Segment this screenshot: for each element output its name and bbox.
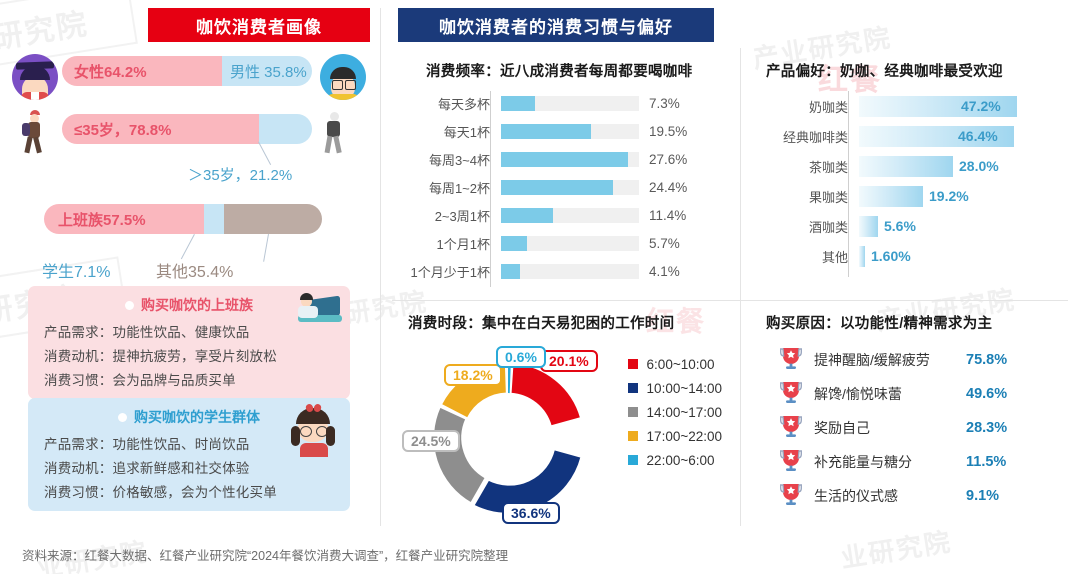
frequency-value: 19.5% [649, 124, 687, 139]
legend-swatch-icon [628, 455, 638, 465]
frequency-value: 27.6% [649, 152, 687, 167]
purchase-reason-value: 49.6% [966, 386, 1007, 402]
divider-horizontal-right [392, 300, 1068, 301]
card-office-workers-line: 消费动机：提神抗疲劳，享受片刻放松 [28, 343, 350, 367]
preference-category: 果咖类 [752, 187, 857, 206]
gender-label-male: 男性 35.8% [230, 56, 307, 86]
frequency-category: 2~3周1杯 [398, 206, 499, 225]
infographic-page: 研究院 研究院 产业研究院 产业研究院 红餐 红餐 产业研究院 业研究院 业研究… [0, 0, 1080, 574]
age-callout-over35: ＞35岁，21.2% [188, 164, 292, 185]
frequency-bar [501, 180, 613, 195]
purchase-reason-title: 购买原因：以功能性/精神需求为主 [766, 312, 1074, 333]
frequency-category: 1个月少于1杯 [398, 262, 499, 281]
divider-vertical-right [740, 48, 741, 526]
frequency-track [501, 264, 639, 279]
frequency-bar [501, 124, 591, 139]
frequency-value: 5.7% [649, 236, 680, 251]
purchase-reason-label: 奖励自己 [814, 418, 966, 438]
frequency-track [501, 124, 639, 139]
frequency-row: 1个月1杯 5.7% [398, 231, 728, 255]
legend-label: 14:00~17:00 [647, 405, 722, 420]
frequency-row: 1个月少于1杯 4.1% [398, 259, 728, 283]
donut-label-1400-1700: 24.5% [402, 430, 460, 452]
age-segment-over35 [259, 114, 312, 144]
donut-label-0600-1000: 20.1% [540, 350, 598, 372]
watermark-text: 业研究院 [838, 521, 954, 574]
purchase-reason-value: 9.1% [966, 488, 999, 504]
legend-item[interactable]: 14:00~17:00 [628, 400, 722, 424]
purchase-reason-value: 75.8% [966, 352, 1007, 368]
legend-label: 22:00~6:00 [647, 453, 715, 468]
purchase-reason-value: 28.3% [966, 420, 1007, 436]
purchase-reason-label: 提神醒脑/缓解疲劳 [814, 350, 966, 370]
preference-row: 茶咖类 28.0% [752, 151, 1074, 181]
occupation-segment-other [224, 204, 322, 234]
section-header-habits: 咖饮消费者的消费习惯与偏好 [398, 8, 714, 42]
card-students-line: 消费动机：追求新鲜感和社交体验 [28, 455, 350, 479]
legend-swatch-icon [628, 431, 638, 441]
age-bar: ≤35岁，78.8% [62, 114, 312, 144]
preference-chart-body: 奶咖类 47.2% 经典咖啡类 46.4% 茶咖类 28.0% 果咖类 19.2… [752, 91, 1074, 271]
trophy-icon [780, 482, 814, 511]
purchase-reason-row: 补充能量与糖分 11.5% [780, 445, 1074, 479]
preference-chart-panel: 产品偏好：奶咖、经典咖啡最受欢迎 奶咖类 47.2% 经典咖啡类 46.4% 茶… [752, 56, 1074, 294]
frequency-track [501, 208, 639, 223]
purchase-reason-label: 生活的仪式感 [814, 486, 966, 506]
gender-label-female: 女性64.2% [74, 56, 147, 86]
legend-label: 10:00~14:00 [647, 381, 722, 396]
legend-item[interactable]: 22:00~6:00 [628, 448, 722, 472]
frequency-chart-body: 每天多杯 7.3% 每天1杯 19.5% 每周3~4杯 27.6% 每周1~2杯… [398, 91, 728, 283]
preference-value: 46.4% [950, 128, 998, 144]
card-students: 购买咖饮的学生群体 产品需求：功能性饮品、时尚饮品 消费动机：追求新鲜感和社交体… [28, 398, 350, 511]
legend-item[interactable]: 6:00~10:00 [628, 352, 722, 376]
frequency-value: 4.1% [649, 264, 680, 279]
gender-bar: 女性64.2% 男性 35.8% [62, 56, 312, 86]
preference-chart-title: 产品偏好：奶咖、经典咖啡最受欢迎 [766, 60, 1074, 81]
frequency-row: 每天多杯 7.3% [398, 91, 728, 115]
legend-label: 6:00~10:00 [647, 357, 715, 372]
donut-label-1000-1400: 36.6% [502, 502, 560, 524]
preference-value: 47.2% [953, 98, 1001, 114]
frequency-category: 每天多杯 [398, 94, 499, 113]
occupation-bar: 上班族57.5% [44, 204, 322, 234]
age-label-under35: ≤35岁，78.8% [74, 114, 171, 144]
frequency-chart-title: 消费频率：近八成消费者每周都要喝咖啡 [426, 60, 728, 81]
frequency-row: 2~3周1杯 11.4% [398, 203, 728, 227]
walking-elder-person-icon [320, 110, 350, 154]
frequency-value: 11.4% [649, 208, 686, 223]
time-slot-chart-title: 消费时段：集中在白天易犯困的工作时间 [408, 312, 728, 333]
preference-category: 奶咖类 [752, 97, 857, 116]
frequency-chart-panel: 消费频率：近八成消费者每周都要喝咖啡 每天多杯 7.3% 每天1杯 19.5% … [398, 56, 728, 294]
purchase-reason-row: 解馋/愉悦味蕾 49.6% [780, 377, 1074, 411]
time-slot-legend: 6:00~10:00 10:00~14:00 14:00~17:00 17:00… [628, 352, 722, 472]
age-leader-line [258, 142, 271, 165]
legend-swatch-icon [628, 383, 638, 393]
occupation-leader-student [181, 234, 195, 259]
trophy-icon [780, 414, 814, 443]
male-glasses-avatar [320, 54, 366, 100]
walking-young-person-icon [20, 110, 50, 154]
card-office-workers: 购买咖饮的上班族 产品需求：功能性饮品、健康饮品 消费动机：提神抗疲劳，享受片刻… [28, 286, 350, 399]
legend-label: 17:00~22:00 [647, 429, 722, 444]
occupation-callout-other: 其他35.4% [156, 258, 233, 282]
frequency-bar [501, 264, 520, 279]
time-slot-chart-panel: 消费时段：集中在白天易犯困的工作时间 20.1% 36. [398, 308, 728, 526]
frequency-track [501, 152, 639, 167]
divider-vertical-main [380, 8, 381, 526]
donut-label-2200-0600: 0.6% [496, 346, 546, 368]
consumer-profile-panel: 女性64.2% 男性 35.8% ≤35岁，78.8% ＞35岁，21 [0, 46, 378, 526]
purchase-reason-row: 奖励自己 28.3% [780, 411, 1074, 445]
purchase-reason-label: 补充能量与糖分 [814, 452, 966, 472]
female-graduate-avatar [12, 54, 58, 100]
occupation-callout-student: 学生7.1% [42, 258, 110, 282]
preference-row: 酒咖类 5.6% [752, 211, 1074, 241]
preference-bar [859, 156, 953, 177]
occupation-segment-student [204, 204, 224, 234]
frequency-category: 每周3~4杯 [398, 150, 499, 169]
purchase-reason-list: 提神醒脑/缓解疲劳 75.8% 解馋/愉悦味蕾 49.6% [780, 343, 1074, 513]
purchase-reason-row: 生活的仪式感 9.1% [780, 479, 1074, 513]
card-office-workers-line: 消费习惯：会为品牌与品质买单 [28, 367, 350, 391]
legend-swatch-icon [628, 359, 638, 369]
trophy-icon [780, 380, 814, 409]
preference-bar [859, 186, 923, 207]
preference-row: 果咖类 19.2% [752, 181, 1074, 211]
frequency-bar [501, 236, 527, 251]
bullet-dot-icon [118, 413, 127, 422]
frequency-track [501, 96, 639, 111]
card-students-title: 购买咖饮的学生群体 [134, 407, 260, 427]
preference-category: 其他 [752, 247, 857, 266]
occupation-label-worker: 上班族57.5% [58, 204, 146, 234]
office-worker-laptop-art [286, 288, 342, 328]
frequency-category: 1个月1杯 [398, 234, 499, 253]
preference-value: 1.60% [863, 248, 911, 264]
frequency-category: 每周1~2杯 [398, 178, 499, 197]
purchase-reason-panel: 购买原因：以功能性/精神需求为主 提神醒脑/缓解疲劳 75.8% [756, 308, 1074, 526]
preference-category: 酒咖类 [752, 217, 857, 236]
frequency-value: 24.4% [649, 180, 687, 195]
preference-row: 奶咖类 47.2% [752, 91, 1074, 121]
frequency-track [501, 180, 639, 195]
frequency-track [501, 236, 639, 251]
preference-value: 28.0% [951, 158, 999, 174]
frequency-row: 每天1杯 19.5% [398, 119, 728, 143]
preference-row: 经典咖啡类 46.4% [752, 121, 1074, 151]
card-students-line: 消费习惯：价格敏感，会为个性化买单 [28, 479, 350, 503]
frequency-row: 每周3~4杯 27.6% [398, 147, 728, 171]
donut-label-1700-2200: 18.2% [444, 364, 502, 386]
preference-category: 茶咖类 [752, 157, 857, 176]
legend-item[interactable]: 17:00~22:00 [628, 424, 722, 448]
frequency-bar [501, 96, 535, 111]
frequency-bar [501, 208, 553, 223]
section-header-habits-label: 咖饮消费者的消费习惯与偏好 [439, 13, 673, 38]
source-footer: 资料来源：红餐大数据、红餐产业研究院“2024年餐饮消费大调查”，红餐产业研究院… [22, 545, 508, 564]
frequency-bar [501, 152, 628, 167]
frequency-value: 7.3% [649, 96, 680, 111]
card-office-workers-title: 购买咖饮的上班族 [141, 295, 253, 315]
trophy-icon [780, 346, 814, 375]
time-slot-donut: 20.1% 36.6% 24.5% 18.2% 0.6% [406, 342, 634, 530]
bullet-dot-icon [125, 301, 134, 310]
purchase-reason-value: 11.5% [966, 454, 1006, 470]
purchase-reason-row: 提神醒脑/缓解疲劳 75.8% [780, 343, 1074, 377]
preference-value: 5.6% [876, 218, 916, 234]
trophy-icon [780, 448, 814, 477]
preference-category: 经典咖啡类 [752, 127, 857, 146]
preference-value: 19.2% [921, 188, 969, 204]
student-girl-art [292, 400, 342, 456]
frequency-category: 每天1杯 [398, 122, 499, 141]
purchase-reason-label: 解馋/愉悦味蕾 [814, 384, 966, 404]
section-header-profile: 咖饮消费者画像 [148, 8, 370, 42]
preference-row: 其他 1.60% [752, 241, 1074, 271]
section-header-profile-label: 咖饮消费者画像 [196, 13, 322, 38]
frequency-row: 每周1~2杯 24.4% [398, 175, 728, 199]
occupation-leader-other [263, 234, 269, 262]
legend-swatch-icon [628, 407, 638, 417]
legend-item[interactable]: 10:00~14:00 [628, 376, 722, 400]
